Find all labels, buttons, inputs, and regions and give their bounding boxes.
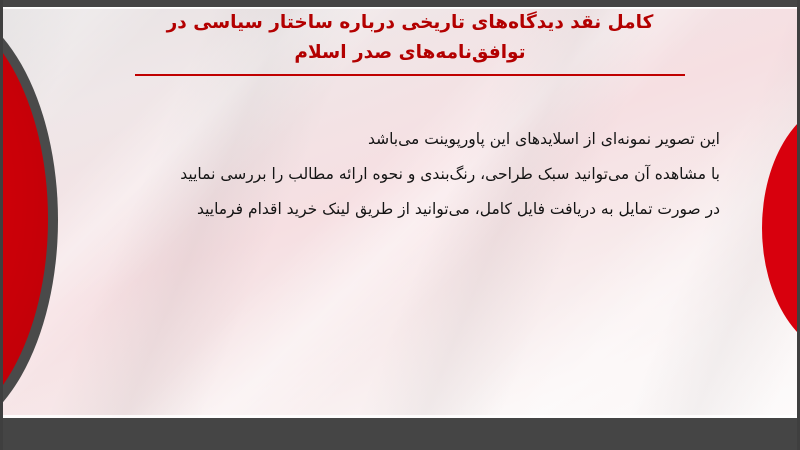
frame-band-left bbox=[0, 0, 3, 450]
body-line-2: با مشاهده آن می‌توانید سبک طراحی، رنگ‌بن… bbox=[80, 157, 720, 192]
presentation-slide: کامل نقد دیدگاه‌های تاریخی درباره ساختار… bbox=[0, 0, 800, 450]
slide-title: کامل نقد دیدگاه‌های تاریخی درباره ساختار… bbox=[120, 8, 700, 68]
frame-band-top bbox=[0, 0, 800, 7]
frame-band-bottom bbox=[0, 418, 800, 450]
slide-title-line-1: کامل نقد دیدگاه‌های تاریخی درباره ساختار… bbox=[120, 8, 700, 38]
slide-body-text: این تصویر نمونه‌ای از اسلایدهای این پاور… bbox=[80, 122, 720, 227]
title-underline-rule bbox=[135, 74, 685, 76]
slide-title-line-2: توافق‌نامه‌های صدر اسلام bbox=[120, 38, 700, 68]
body-line-3: در صورت تمایل به دریافت فایل کامل، می‌تو… bbox=[80, 192, 720, 227]
body-line-1: این تصویر نمونه‌ای از اسلایدهای این پاور… bbox=[80, 122, 720, 157]
